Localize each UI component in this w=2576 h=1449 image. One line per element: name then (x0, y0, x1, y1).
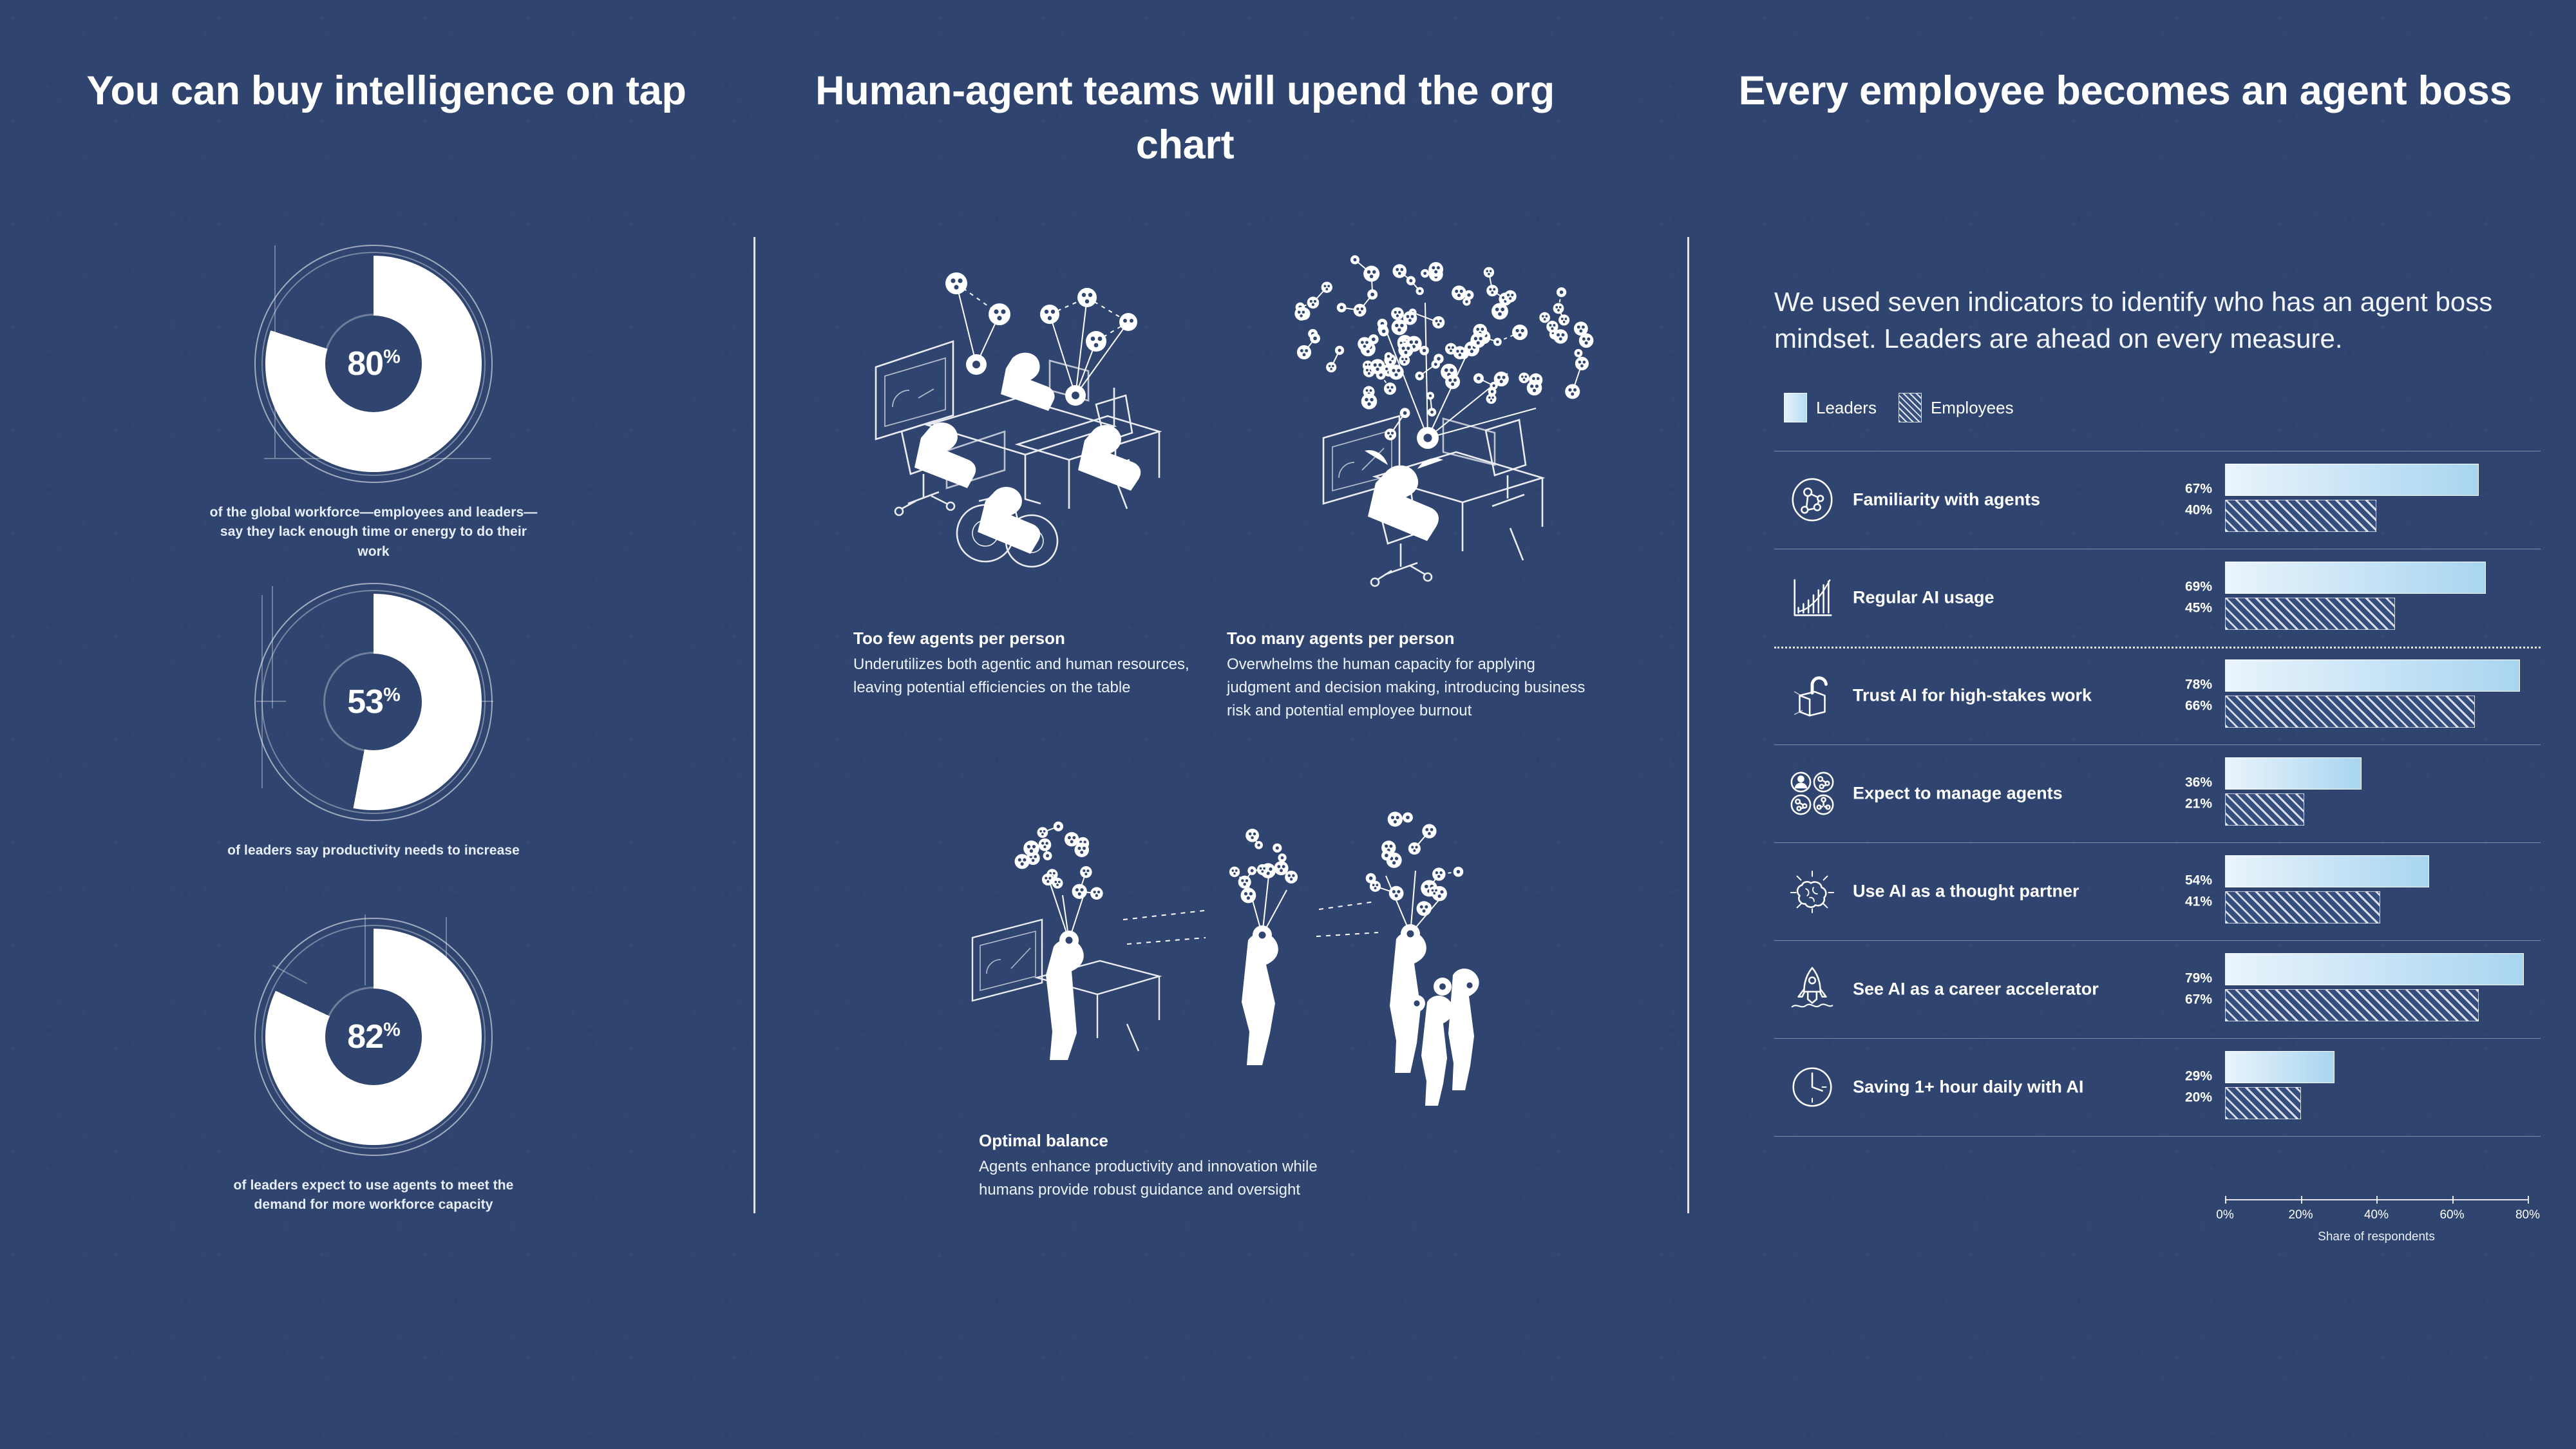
bar-employees (2225, 793, 2304, 826)
chart-row: Expect to manage agents36%21% (1774, 744, 2541, 842)
too-few-agents-title: Too few agents per person (853, 628, 1195, 649)
stat-percent-symbol: % (383, 1019, 400, 1041)
column-two-heading: Human-agent teams will upend the org cha… (799, 64, 1571, 173)
column-divider-right (1687, 237, 1689, 1213)
axis-tick (2376, 1196, 2378, 1204)
unlocked-padlock-icon (1787, 670, 1837, 721)
axis-tick (2452, 1196, 2454, 1204)
row-label: Expect to manage agents (1853, 784, 2063, 804)
bar-leaders (2225, 659, 2520, 692)
indicator-bar-chart: Familiarity with agents67%40%Regular AI … (1774, 451, 2541, 1211)
clock-icon (1787, 1062, 1837, 1112)
chart-x-axis: 0%20%40%60%80% (2225, 1199, 2528, 1257)
chart-row: Trust AI for high-stakes work78%66% (1774, 647, 2541, 744)
row-icon-wrap (1787, 1062, 1837, 1112)
axis-tick-label: 80% (2515, 1208, 2540, 1222)
row-icon-wrap (1787, 573, 1837, 623)
row-value-labels: 69%45% (2167, 576, 2212, 618)
axis-tick-label: 20% (2288, 1208, 2313, 1222)
column-divider-left (753, 237, 755, 1213)
row-value-labels: 67%40% (2167, 478, 2212, 520)
stat-caption: of leaders expect to use agents to meet … (206, 1176, 541, 1215)
stat-percent-symbol: % (383, 346, 400, 368)
optimal-balance-title: Optimal balance (979, 1130, 1327, 1151)
value-label-employees: 45% (2167, 598, 2212, 619)
chart-row: Saving 1+ hour daily with AI29%20% (1774, 1038, 2541, 1136)
donut-center-value: 82% (325, 989, 422, 1085)
row-value-labels: 78%66% (2167, 674, 2212, 716)
network-circle-icon (1787, 475, 1837, 525)
row-label: Use AI as a thought partner (1853, 882, 2079, 902)
column-three-heading: Every employee becomes an agent boss (1726, 64, 2524, 118)
row-label: Regular AI usage (1853, 588, 1994, 608)
chart-row: Familiarity with agents67%40% (1774, 451, 2541, 549)
stat-block-53: 53% of leaders say productivity needs to… (206, 580, 541, 860)
row-label: Familiarity with agents (1853, 490, 2040, 510)
bar-employees (2225, 696, 2475, 728)
x-axis-title: Share of respondents (2225, 1230, 2528, 1244)
row-label: Saving 1+ hour daily with AI (1853, 1077, 2083, 1097)
column-one-heading: You can buy intelligence on tap (64, 64, 708, 118)
row-bars (2225, 559, 2528, 636)
value-label-leaders: 36% (2167, 772, 2212, 793)
bar-leaders (2225, 464, 2479, 496)
axis-tick-label: 60% (2439, 1208, 2464, 1222)
donut-chart-53: 53% (251, 580, 496, 824)
stat-caption: of leaders say productivity needs to inc… (206, 841, 541, 860)
too-few-agents-illustration (857, 238, 1217, 599)
brain-idea-icon (1787, 866, 1837, 916)
axis-tick-label: 40% (2364, 1208, 2389, 1222)
chart-row: Use AI as a thought partner54%41% (1774, 842, 2541, 940)
stat-block-82: 82% of leaders expect to use agents to m… (206, 914, 541, 1215)
row-label: Trust AI for high-stakes work (1853, 686, 2092, 706)
legend-item-leaders: Leaders (1784, 393, 1877, 422)
stat-block-80: 80% of the global workforce—employees an… (206, 241, 541, 562)
value-label-employees: 21% (2167, 793, 2212, 815)
axis-tick (2301, 1196, 2302, 1204)
row-bars (2225, 1048, 2528, 1126)
value-label-employees: 41% (2167, 891, 2212, 913)
chart-intro-text: We used seven indicators to identify who… (1774, 283, 2508, 357)
stat-value: 80 (347, 345, 383, 383)
legend-label-leaders: Leaders (1816, 398, 1877, 418)
row-bars (2225, 657, 2528, 734)
row-icon-wrap (1787, 866, 1837, 916)
row-icon-wrap (1787, 964, 1837, 1014)
legend-item-employees: Employees (1899, 393, 2014, 422)
stat-percent-symbol: % (383, 685, 400, 706)
axis-tick (2528, 1196, 2529, 1204)
row-icon-wrap (1787, 768, 1837, 819)
too-many-agents-caption: Too many agents per person Overwhelms th… (1227, 628, 1600, 723)
optimal-balance-caption: Optimal balance Agents enhance productiv… (979, 1130, 1327, 1202)
row-value-labels: 54%41% (2167, 870, 2212, 912)
row-bars (2225, 755, 2528, 832)
bar-leaders (2225, 757, 2362, 790)
bar-employees (2225, 500, 2376, 532)
bar-leaders (2225, 1051, 2334, 1083)
value-label-leaders: 78% (2167, 674, 2212, 696)
value-label-leaders: 67% (2167, 478, 2212, 500)
rocket-icon (1787, 964, 1837, 1014)
bar-leaders (2225, 855, 2429, 887)
bar-employees (2225, 1087, 2301, 1119)
row-bars (2225, 461, 2528, 538)
row-label: See AI as a career accelerator (1853, 980, 2099, 999)
optimal-balance-illustration (966, 747, 1507, 1108)
optimal-balance-body: Agents enhance productivity and innovati… (979, 1155, 1327, 1202)
bar-employees (2225, 989, 2479, 1021)
bar-employees (2225, 598, 2395, 630)
growth-bar-chart-icon (1787, 573, 1837, 623)
stat-caption: of the global workforce—employees and le… (206, 503, 541, 562)
bar-leaders (2225, 953, 2524, 985)
value-label-employees: 66% (2167, 696, 2212, 717)
too-few-agents-caption: Too few agents per person Underutilizes … (853, 628, 1195, 699)
donut-center-value: 53% (325, 654, 422, 750)
chart-legend: Leaders Employees (1784, 393, 2014, 422)
axis-tick-label: 0% (2216, 1208, 2233, 1222)
value-label-leaders: 29% (2167, 1066, 2212, 1087)
row-divider (1774, 1136, 2541, 1137)
row-bars (2225, 951, 2528, 1028)
stat-value: 82 (347, 1018, 383, 1056)
donut-chart-82: 82% (251, 914, 496, 1159)
value-label-employees: 67% (2167, 989, 2212, 1010)
bar-leaders (2225, 562, 2486, 594)
bar-employees (2225, 891, 2380, 923)
legend-swatch-employees (1899, 393, 1922, 422)
value-label-leaders: 54% (2167, 870, 2212, 891)
row-bars (2225, 853, 2528, 930)
too-many-agents-body: Overwhelms the human capacity for applyi… (1227, 653, 1600, 723)
value-label-leaders: 79% (2167, 968, 2212, 989)
row-value-labels: 36%21% (2167, 772, 2212, 814)
axis-tick (2225, 1196, 2226, 1204)
too-many-agents-title: Too many agents per person (1227, 628, 1600, 649)
avatar-grid-icon (1787, 768, 1837, 819)
chart-row: See AI as a career accelerator79%67% (1774, 940, 2541, 1038)
infographic-stage: You can buy intelligence on tap Human-ag… (0, 0, 2576, 1449)
chart-row: Regular AI usage69%45% (1774, 549, 2541, 647)
row-icon-wrap (1787, 475, 1837, 525)
row-icon-wrap (1787, 670, 1837, 721)
value-label-leaders: 69% (2167, 576, 2212, 598)
too-few-agents-body: Underutilizes both agentic and human res… (853, 653, 1195, 699)
row-value-labels: 29%20% (2167, 1066, 2212, 1108)
legend-swatch-leaders (1784, 393, 1807, 422)
value-label-employees: 40% (2167, 500, 2212, 521)
legend-label-employees: Employees (1931, 398, 2014, 418)
row-value-labels: 79%67% (2167, 968, 2212, 1010)
donut-chart-80: 80% (251, 241, 496, 486)
stat-value: 53 (347, 683, 383, 721)
donut-center-value: 80% (325, 316, 422, 412)
value-label-employees: 20% (2167, 1087, 2212, 1108)
too-many-agents-illustration (1259, 225, 1620, 599)
